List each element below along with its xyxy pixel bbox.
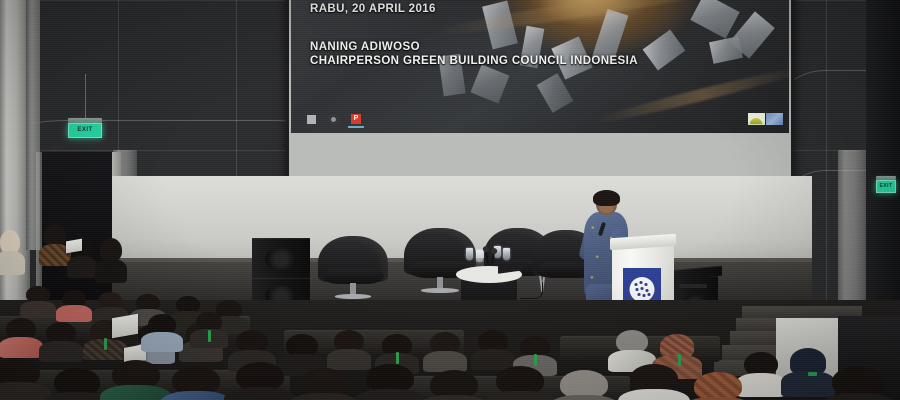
audience-member-front (630, 364, 678, 400)
exit-sign-right: EXIT (876, 176, 896, 193)
umn-logo-dot (643, 294, 646, 297)
person-shoulders (354, 389, 425, 400)
presentation-slide: (SEMS 2016) UNIVERSITAS MULTIMEDIA NUSAN… (291, 0, 789, 133)
umn-logo-dot (638, 293, 641, 296)
audience-member-front (172, 366, 220, 400)
audience-member-front (496, 366, 544, 400)
media-circle-icon[interactable] (329, 115, 338, 124)
slide-line-date: RABU, 20 APRIL 2016 (310, 3, 436, 15)
exit-sign-rod (85, 74, 86, 118)
audience-member-front (236, 362, 284, 400)
person-shoulders (224, 387, 295, 400)
person-shoulders (736, 373, 786, 397)
person-shoulders (0, 382, 51, 400)
person-shirt (67, 256, 97, 278)
audience-member (744, 352, 778, 394)
umn-logo-dot (646, 289, 649, 292)
windows-taskbar: P (307, 114, 361, 124)
audience-member (478, 330, 508, 368)
audience-member-front (560, 370, 608, 400)
audience-member-front (300, 368, 348, 400)
person-shoulders (39, 341, 83, 362)
umn-logo-dot (635, 283, 638, 286)
blue-partner-logo (766, 113, 783, 125)
powerpoint-icon[interactable]: P (351, 114, 361, 124)
audience-member (62, 290, 86, 320)
audience-member (430, 332, 460, 370)
water-glass (466, 248, 473, 260)
umn-logo-circle (630, 277, 655, 302)
audience-member-front (832, 366, 884, 400)
stage-speaker-cabinet (252, 238, 310, 278)
column-stage-right (838, 150, 868, 310)
umn-logo-dot (636, 288, 639, 291)
audience-member-hijab (790, 348, 826, 394)
lanyard (808, 372, 817, 376)
slide-building (537, 73, 574, 113)
person-shoulders (56, 305, 92, 322)
audience-member (46, 322, 76, 360)
audience-member-front (430, 370, 478, 400)
doorframe-left-outer (36, 152, 42, 302)
speaker-cone (265, 248, 297, 270)
lanyard (678, 354, 681, 366)
green-building-logo (748, 113, 765, 125)
audience-member-front (54, 368, 100, 400)
lanyard (208, 330, 211, 342)
presenter-hair (593, 190, 620, 206)
exit-sign-left: EXIT (68, 118, 102, 138)
audience-member (26, 286, 50, 316)
person-shoulders (20, 301, 56, 318)
person-shirt (0, 251, 25, 275)
speaker-port (679, 284, 707, 288)
person-shoulders (0, 337, 43, 358)
water-glass (476, 250, 483, 262)
audience-member (334, 330, 364, 368)
person-shoulders (618, 389, 689, 400)
chair-base (421, 288, 458, 292)
slide-building (690, 0, 739, 39)
windows-start-icon[interactable] (307, 115, 316, 124)
chair-base (335, 294, 371, 298)
audience-member (6, 318, 36, 356)
slide-line-venue: UNIVERSITAS MULTIMEDIA NUSANTARA (310, 0, 549, 1)
standing-attendee (0, 230, 20, 272)
water-glass (503, 248, 510, 260)
projection-screen: (SEMS 2016) UNIVERSITAS MULTIMEDIA NUSAN… (286, 0, 794, 180)
table-cable (520, 282, 543, 299)
person-shoulders (141, 332, 182, 352)
lanyard (104, 338, 107, 350)
slide-logo-group (748, 113, 783, 125)
chair-seat (322, 268, 384, 284)
audience-member (148, 314, 176, 350)
exit-sign-panel: EXIT (68, 123, 102, 138)
audience-member-front (366, 364, 414, 400)
person-shirt (95, 259, 128, 283)
umn-logo-dot (648, 293, 651, 296)
slide-line-role: CHAIRPERSON GREEN BUILDING COUNCIL INDON… (310, 55, 638, 67)
standing-attendee (44, 224, 66, 264)
slide-building (643, 29, 686, 70)
auditorium-photo: (SEMS 2016) UNIVERSITAS MULTIMEDIA NUSAN… (0, 0, 900, 400)
lanyard (534, 354, 537, 366)
umn-logo-dot (645, 283, 648, 286)
audience-member-front (694, 372, 742, 400)
wall-far-right (866, 0, 900, 330)
umn-logo-dot (641, 287, 644, 290)
exit-sign-panel: EXIT (876, 180, 896, 193)
standing-attendee (100, 238, 122, 280)
slide-line-speaker: NANING ADIWOSO (310, 41, 420, 53)
audience-member-front (112, 360, 160, 400)
stage-chair (318, 236, 388, 298)
person-head (694, 372, 742, 400)
audience-member-front (0, 358, 40, 400)
lanyard (396, 352, 399, 364)
slide-building (470, 64, 509, 103)
umn-logo-dot (640, 281, 643, 284)
